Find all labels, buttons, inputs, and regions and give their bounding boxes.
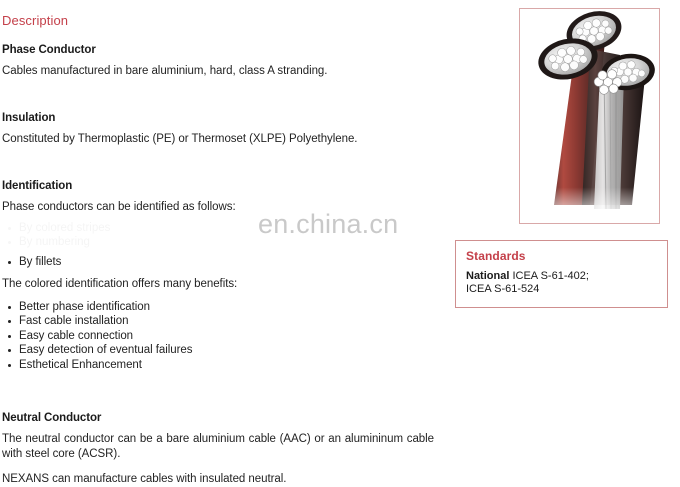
- obscured-bullet-1: By colored stripes: [2, 221, 110, 236]
- paragraph-neutral-1: The neutral conductor can be a bare alum…: [2, 432, 434, 462]
- paragraph-benefits-intro: The colored identification offers many b…: [2, 277, 450, 292]
- list-item: Easy detection of eventual failures: [2, 343, 450, 358]
- standards-value-line-1: ICEA S-61-402;: [512, 270, 588, 282]
- list-item: Esthetical Enhancement: [2, 358, 450, 373]
- heading-phase-conductor: Phase Conductor: [2, 43, 450, 57]
- cable-illustration: [520, 9, 659, 223]
- spacer-3: [2, 373, 450, 397]
- list-item: Easy cable connection: [2, 329, 450, 344]
- heading-neutral-conductor: Neutral Conductor: [2, 411, 450, 425]
- description-column: Description Phase Conductor Cables manuf…: [2, 0, 450, 478]
- standards-label-national: National: [466, 270, 509, 282]
- obscured-bullet-2: By numbering: [2, 235, 90, 250]
- paragraph-identification-intro: Phase conductors can be identified as fo…: [2, 200, 450, 215]
- page-title: Description: [2, 13, 450, 29]
- product-photo-frame: [519, 8, 660, 224]
- benefits-bullet-list: Better phase identification Fast cable i…: [2, 300, 450, 373]
- paragraph-phase-conductor: Cables manufactured in bare aluminium, h…: [2, 64, 450, 79]
- heading-identification: Identification: [2, 179, 450, 193]
- product-photo: [520, 9, 659, 223]
- spacer-2: [2, 147, 450, 165]
- list-item: Fast cable installation: [2, 314, 450, 329]
- heading-insulation: Insulation: [2, 111, 450, 125]
- identification-bullet-list: By fillets: [2, 255, 450, 270]
- list-item: Better phase identification: [2, 300, 450, 315]
- standards-panel: Standards National ICEA S-61-402; ICEA S…: [455, 240, 668, 308]
- standards-title: Standards: [466, 249, 667, 263]
- standards-value: National ICEA S-61-402; ICEA S-61-524: [466, 270, 667, 296]
- list-item: By fillets: [2, 255, 450, 270]
- standards-value-line-2: ICEA S-61-524: [466, 283, 539, 295]
- spacer-1: [2, 79, 450, 97]
- paragraph-neutral-2: NEXANS can manufacture cables with insul…: [2, 472, 450, 487]
- obscured-bullet-group: By colored stripes By numbering: [2, 219, 450, 249]
- right-column: Standards National ICEA S-61-402; ICEA S…: [450, 0, 680, 478]
- paragraph-insulation: Constituted by Thermoplastic (PE) or The…: [2, 132, 450, 147]
